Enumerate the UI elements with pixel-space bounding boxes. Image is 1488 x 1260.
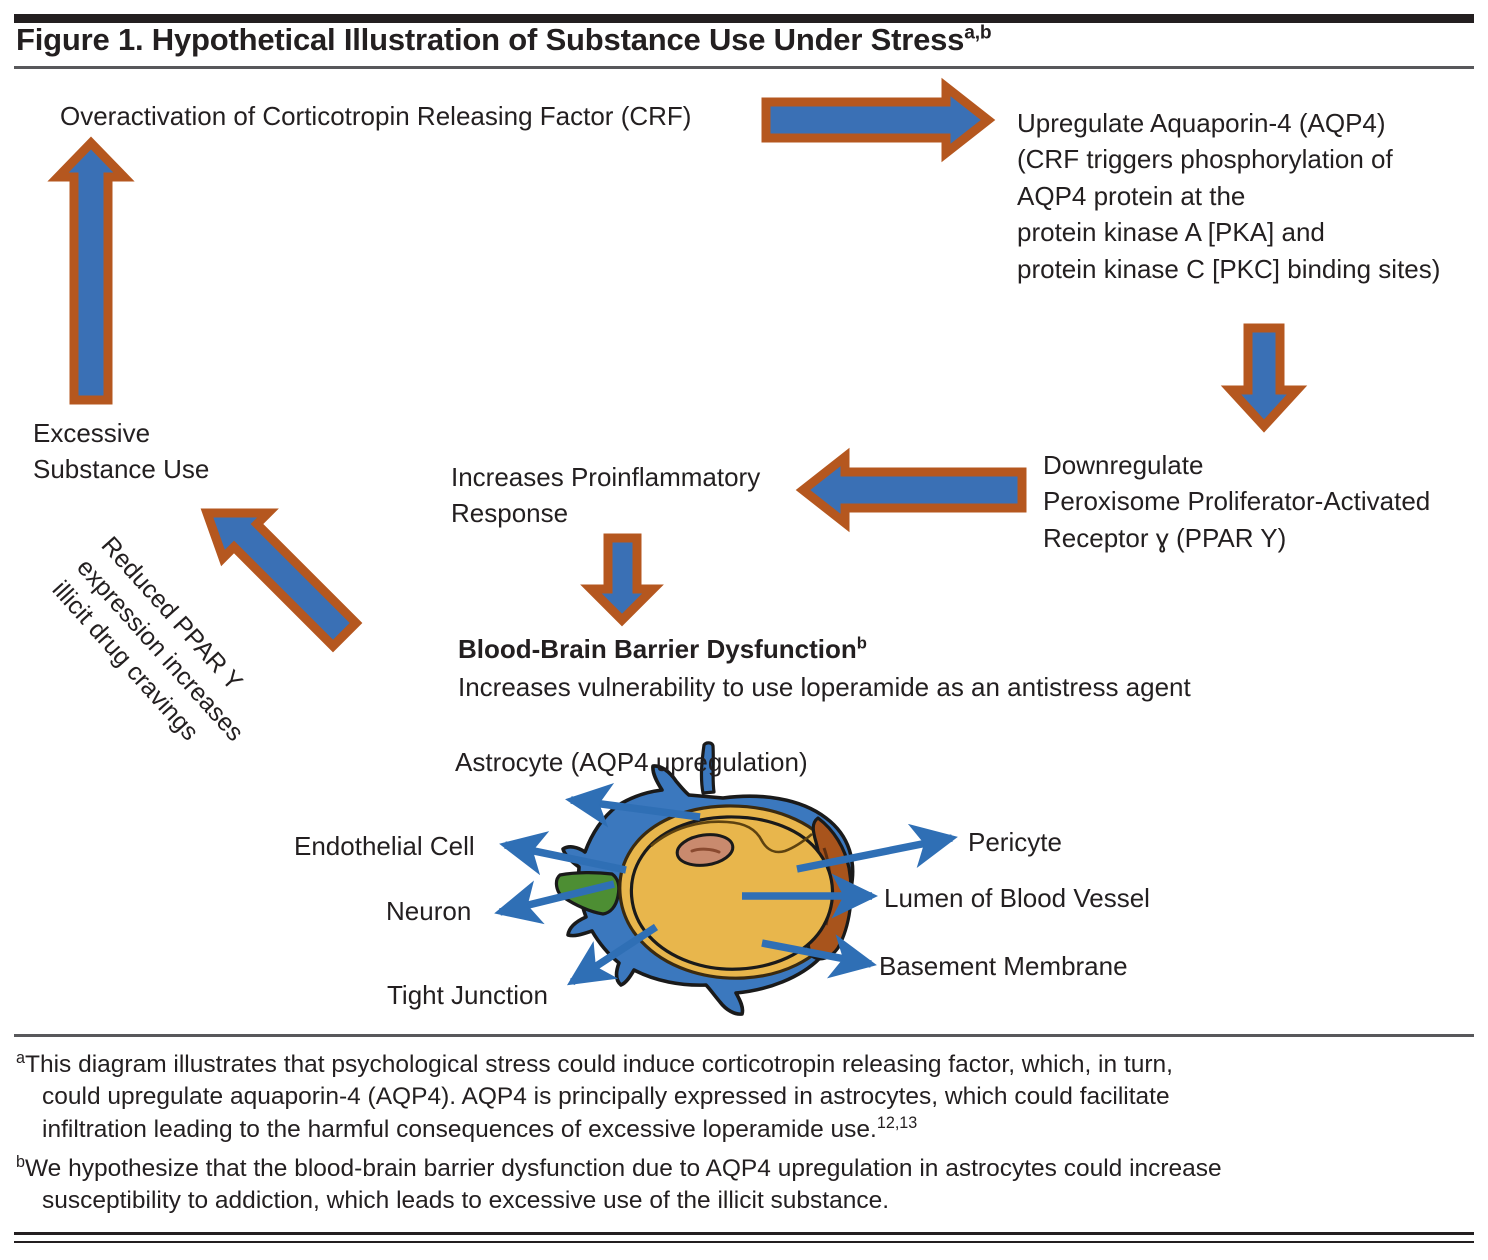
label-lumen-of-blood-vessel: Lumen of Blood Vessel — [884, 882, 1150, 916]
pointer-neuron — [500, 884, 614, 912]
figure-container: Figure 1. Hypothetical Illustration of S… — [0, 0, 1488, 1260]
footnote-b-marker: b — [16, 1155, 25, 1182]
footnote-a-line3: infiltration leading to the harmful cons… — [16, 1113, 1472, 1146]
label-basement-membrane: Basement Membrane — [879, 950, 1128, 984]
footnote-a-sup: a — [16, 1049, 25, 1067]
pointer-astrocyte — [571, 800, 700, 817]
footnote-a: aThis diagram illustrates that psycholog… — [16, 1048, 1472, 1147]
label-astrocyte: Astrocyte (AQP4 upregulation) — [455, 746, 808, 780]
footnote-b-sup: b — [16, 1153, 25, 1171]
footnote-a-marker: a — [16, 1051, 25, 1078]
footnote-b-line2: susceptibility to addiction, which leads… — [16, 1185, 1472, 1217]
footnote-a-line1: This diagram illustrates that psychologi… — [25, 1051, 1173, 1078]
pointer-endothelial — [505, 845, 626, 870]
label-tight-junction: Tight Junction — [387, 979, 548, 1013]
footnote-b-line1: We hypothesize that the blood-brain barr… — [25, 1155, 1222, 1182]
label-pericyte: Pericyte — [968, 826, 1062, 860]
footnote-a-line2: could upregulate aquaporin-4 (AQP4). AQP… — [16, 1081, 1472, 1113]
footnote-a-citation: 12,13 — [877, 1114, 917, 1132]
pointer-tight-junction — [572, 927, 656, 982]
pointer-basement — [762, 943, 871, 964]
footnote-b: bWe hypothesize that the blood-brain bar… — [16, 1152, 1472, 1217]
footnote-a-line3-text: infiltration leading to the harmful cons… — [42, 1117, 877, 1144]
label-endothelial-cell: Endothelial Cell — [294, 830, 475, 864]
label-neuron: Neuron — [386, 895, 471, 929]
pointer-pericyte — [797, 838, 952, 869]
